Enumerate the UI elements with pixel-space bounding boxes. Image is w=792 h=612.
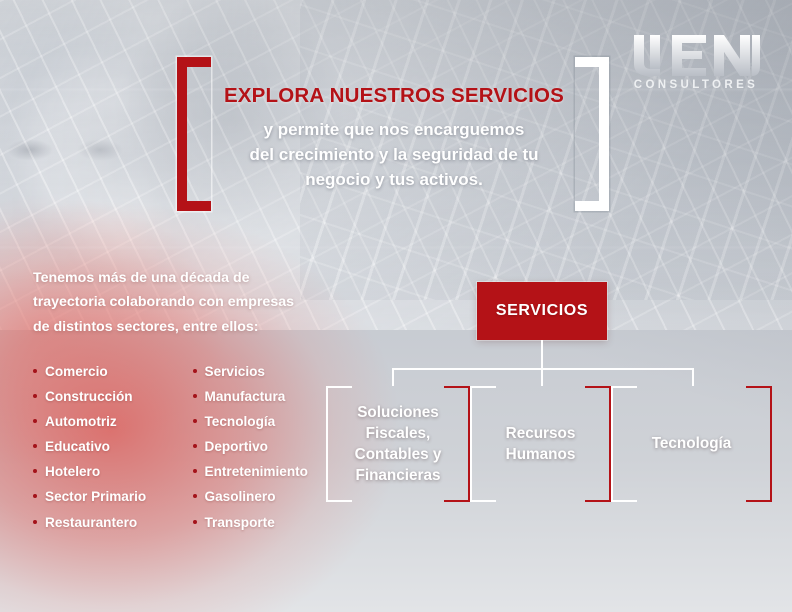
services-root-node: SERVICIOS: [477, 282, 607, 340]
intro-line-1: Tenemos más de una década de: [33, 266, 333, 290]
list-item: Entretenimiento: [193, 465, 334, 479]
headline-title: EXPLORA NUESTROS SERVICIOS: [218, 84, 570, 108]
list-item: Automotriz: [33, 415, 174, 429]
intro-paragraph: Tenemos más de una década de trayectoria…: [33, 266, 333, 339]
poster-canvas: CONSULTORES EXPLORA NUESTROS SERVICIOS y…: [0, 0, 792, 612]
list-item: Sector Primario: [33, 490, 174, 504]
logo-wordmark: CONSULTORES: [628, 79, 764, 91]
list-item: Transporte: [193, 516, 334, 530]
headline-subtext-line-2: del crecimiento y la seguridad de tu: [218, 142, 570, 167]
headline-block: EXPLORA NUESTROS SERVICIOS y permite que…: [218, 84, 570, 192]
service-box-tecnologia: Tecnología: [611, 386, 772, 502]
list-item: Comercio: [33, 365, 174, 379]
service-box-fiscal: Soluciones Fiscales, Contables y Financi…: [326, 386, 470, 502]
bracket-left-white: [470, 386, 496, 502]
list-item: Restaurantero: [33, 516, 174, 530]
sector-column-right: Servicios Manufactura Tecnología Deporti…: [193, 365, 334, 541]
sector-list: Comercio Construcción Automotriz Educati…: [33, 365, 333, 541]
headline-bracket-left-red: [177, 57, 211, 211]
headline-subtext: y permite que nos encarguemos del crecim…: [218, 117, 570, 192]
service-label-line-1: Recursos: [506, 423, 576, 444]
connector-drop-left: [392, 368, 394, 386]
service-label-line-2: Humanos: [506, 444, 576, 465]
connector-drop-center: [541, 368, 543, 386]
connector-horizontal-bar: [392, 368, 694, 370]
connector-stem: [541, 340, 543, 369]
connector-drop-right: [692, 368, 694, 386]
list-item: Manufactura: [193, 390, 334, 404]
uen-logo-icon: [628, 33, 764, 77]
list-item: Tecnología: [193, 415, 334, 429]
headline-bracket-right-white: [575, 57, 609, 211]
intro-line-2: trayectoria colaborando con empresas: [33, 290, 333, 314]
headline-subtext-line-1: y permite que nos encarguemos: [218, 117, 570, 142]
list-item: Servicios: [193, 365, 334, 379]
brand-logo: CONSULTORES: [628, 33, 764, 91]
list-item: Construcción: [33, 390, 174, 404]
list-item: Gasolinero: [193, 490, 334, 504]
service-box-label: Tecnología: [646, 433, 738, 454]
service-box-label: Soluciones Fiscales, Contables y Financi…: [349, 402, 448, 486]
sector-column-left: Comercio Construcción Automotriz Educati…: [33, 365, 174, 541]
list-item: Deportivo: [193, 440, 334, 454]
bracket-right-red: [444, 386, 470, 502]
intro-line-3: de distintos sectores, entre ellos:: [33, 315, 333, 339]
service-box-label: Recursos Humanos: [500, 423, 582, 465]
bracket-right-red: [746, 386, 772, 502]
service-label-line-4: Financieras: [355, 465, 442, 486]
service-box-recursos-humanos: Recursos Humanos: [470, 386, 611, 502]
service-label-line-2: Fiscales,: [355, 423, 442, 444]
headline-subtext-line-3: negocio y tus activos.: [218, 167, 570, 192]
service-label-line-1: Soluciones: [355, 402, 442, 423]
services-root-label: SERVICIOS: [496, 302, 588, 320]
service-label-line-1: Tecnología: [652, 433, 732, 454]
list-item: Educativo: [33, 440, 174, 454]
bracket-right-red: [585, 386, 611, 502]
list-item: Hotelero: [33, 465, 174, 479]
bracket-left-white: [611, 386, 637, 502]
service-label-line-3: Contables y: [355, 444, 442, 465]
